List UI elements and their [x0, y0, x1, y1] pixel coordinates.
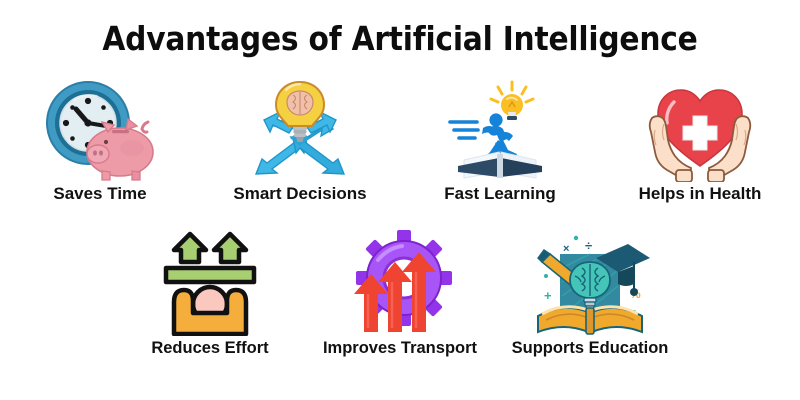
benefit-label: Smart Decisions	[233, 184, 366, 204]
page-title: Advantages of Artificial Intelligence	[0, 20, 800, 58]
benefit-label: Saves Time	[53, 184, 146, 204]
hands-heart-cross-icon	[640, 78, 760, 182]
clock-piggybank-icon	[40, 78, 160, 182]
benefit-item-saves-time: Saves Time	[0, 78, 200, 204]
benefit-item-reduces-effort: Reduces Effort	[115, 228, 305, 358]
benefit-label: Helps in Health	[639, 184, 762, 204]
svg-text:÷: ÷	[585, 238, 592, 253]
benefit-item-supports-education: × ÷ + %	[495, 228, 685, 358]
book-brain-graduation-icon: × ÷ + %	[530, 228, 650, 336]
svg-text:×: ×	[563, 243, 569, 255]
infographic-canvas: Advantages of Artificial Intelligence	[0, 0, 800, 400]
benefit-label: Reduces Effort	[151, 338, 268, 358]
benefits-row-top: Saves Time	[0, 78, 800, 204]
gear-growth-arrows-icon	[340, 228, 460, 336]
benefits-row-bottom: Reduces Effort	[0, 228, 800, 358]
runner-book-bulb-icon	[440, 78, 560, 182]
benefit-label: Improves Transport	[323, 338, 477, 358]
lightbulb-brain-arrows-icon	[240, 78, 360, 182]
benefit-item-improves-transport: Improves Transport	[305, 228, 495, 358]
svg-text:+: +	[544, 288, 552, 303]
person-lifting-bar-icon	[150, 228, 270, 336]
benefit-item-fast-learning: Fast Learning	[400, 78, 600, 204]
benefit-label: Supports Education	[512, 338, 669, 358]
benefit-item-smart-decisions: Smart Decisions	[200, 78, 400, 204]
benefit-label: Fast Learning	[444, 184, 555, 204]
benefit-item-helps-in-health: Helps in Health	[600, 78, 800, 204]
